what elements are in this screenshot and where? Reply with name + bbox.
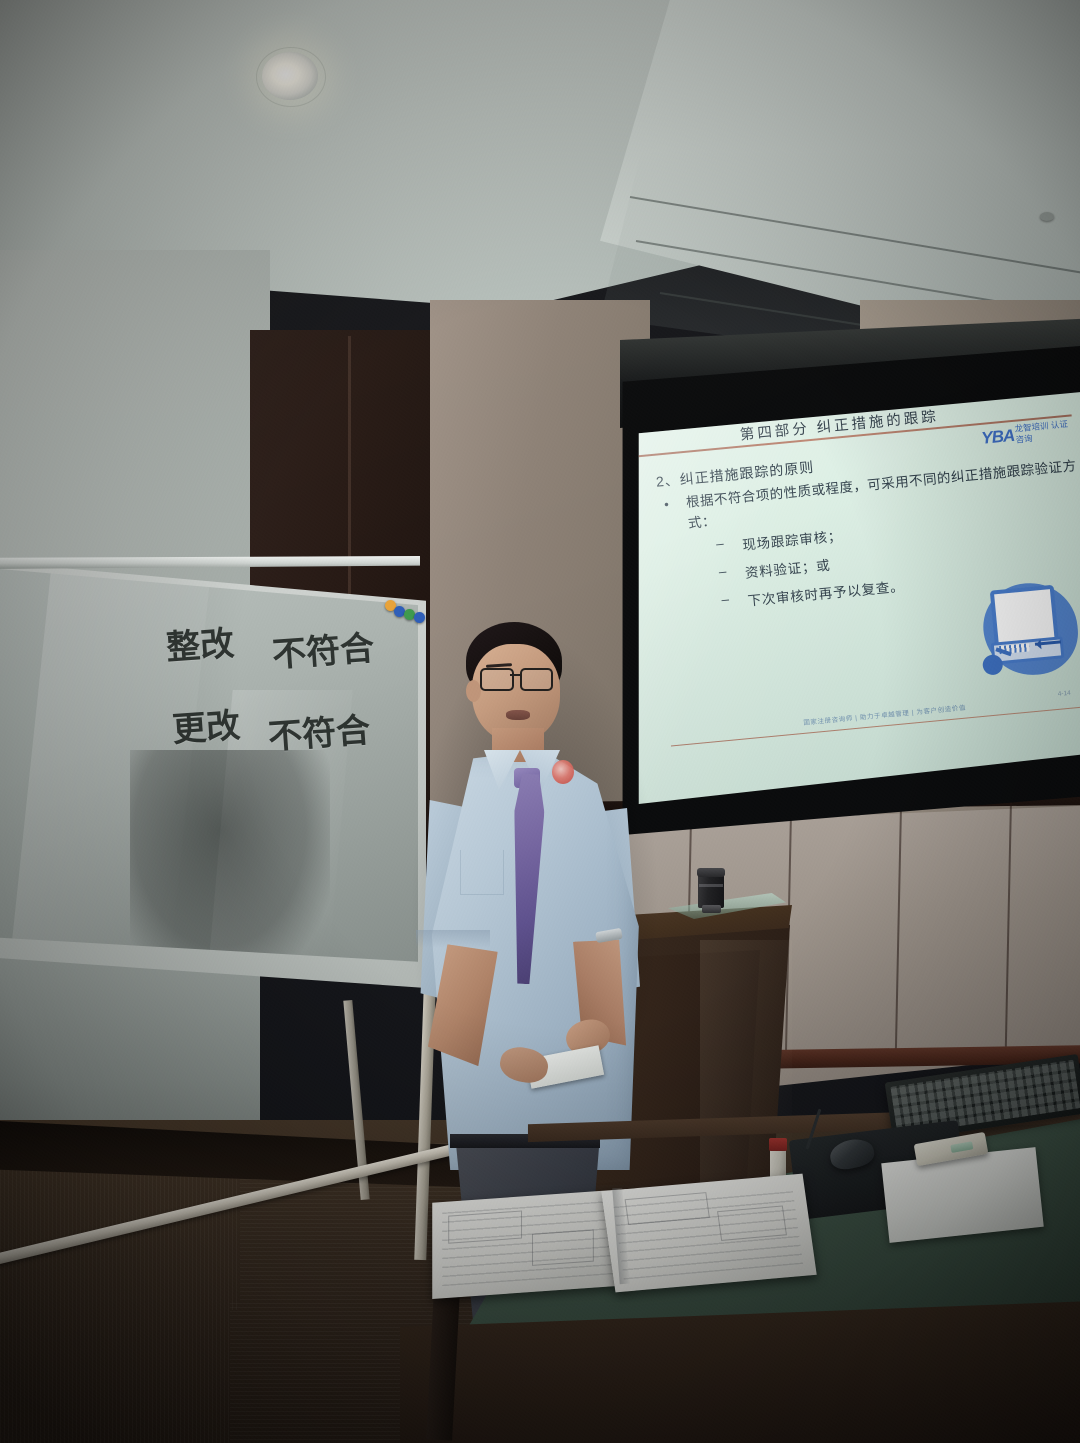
slide-subitem-2: 资料验证；或 — [744, 554, 831, 582]
ceiling-downlight-icon — [262, 52, 318, 100]
slide-subitem-dash: – — [721, 591, 730, 607]
thermos-base — [702, 905, 721, 913]
slide-subitem-1: 现场跟踪审核； — [741, 525, 843, 554]
slide-logo: YBA 龙智培训 认证咨询 — [980, 419, 1068, 453]
presenter-mouth — [506, 710, 530, 720]
whiteboard-note-1: 整改 — [164, 616, 235, 670]
whiteboard-note-3: 更改 — [170, 698, 241, 752]
glue-stick-cap — [769, 1138, 787, 1151]
booklet-left-page — [432, 1189, 628, 1299]
presenter-shirt-pocket — [460, 850, 504, 895]
slide-subitem-3: 下次审核时再予以复查。 — [747, 575, 905, 610]
whiteboard-note-4: 不符合 — [266, 703, 371, 759]
logo-mark: YBA — [980, 426, 1015, 449]
whiteboard-note-2: 不符合 — [270, 621, 375, 677]
slide-subitem-dash: – — [718, 564, 727, 580]
slide-bullet-marker: • — [664, 497, 670, 512]
presenter-badge-icon — [552, 760, 574, 784]
slide-footer-text: 国家注册咨询师 | 助力于卓越管理 | 为客户创造价值 — [803, 702, 967, 727]
presenter-ear — [466, 680, 481, 702]
thermos-cup — [698, 872, 724, 908]
open-booklet — [432, 1178, 810, 1290]
glasses-icon — [480, 668, 558, 688]
slide-page-number: 4-14 — [1057, 690, 1071, 698]
slide-subitem-dash: – — [715, 536, 724, 552]
booklet-right-page — [601, 1174, 816, 1293]
ceiling-sensor-icon — [1040, 212, 1054, 221]
photo-scene: 第四部分 纠正措施的跟踪 YBA 龙智培训 认证咨询 2、纠正措施跟踪的原则 •… — [0, 0, 1080, 1443]
thermos-cap — [697, 868, 725, 877]
thermos-band — [699, 884, 723, 887]
logo-company-text: 龙智培训 认证咨询 — [1014, 419, 1070, 446]
paper-stack — [881, 1147, 1044, 1243]
projection-screen-surface: 第四部分 纠正措施的跟踪 YBA 龙智培训 认证咨询 2、纠正措施跟踪的原则 •… — [632, 392, 1080, 804]
computer-clipart-icon — [963, 572, 1080, 693]
whiteboard-shadow — [130, 750, 330, 970]
slide-content: 第四部分 纠正措施的跟踪 YBA 龙智培训 认证咨询 2、纠正措施跟踪的原则 •… — [632, 392, 1080, 803]
